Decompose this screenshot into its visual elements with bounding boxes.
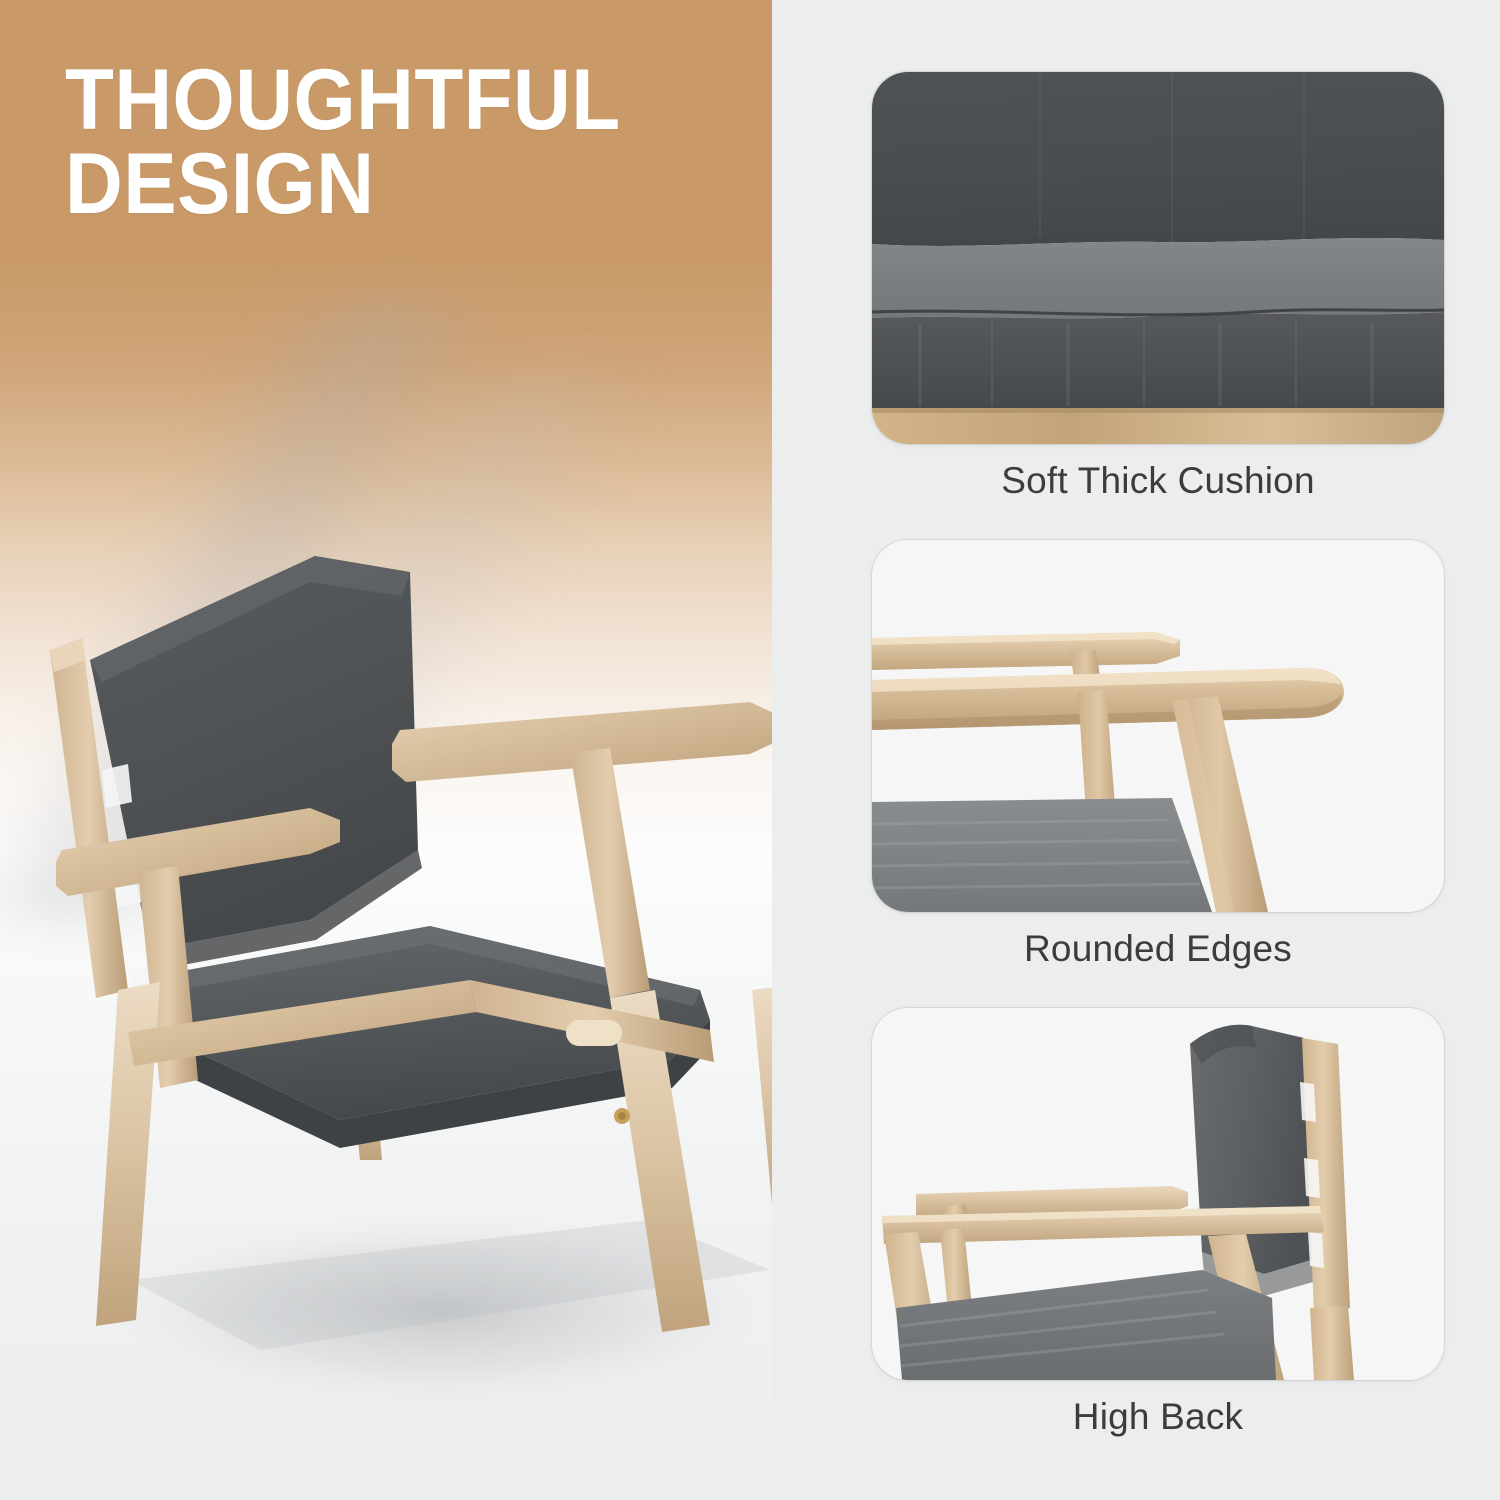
feature-image-high-back [872,1008,1444,1380]
back-cushion-slab [872,72,1444,246]
backrest-slat-gap-2 [1304,1158,1320,1198]
side-profile-illustration [872,1008,1444,1380]
feature-image-cushion [872,72,1444,444]
main-product-image [10,520,772,1410]
backrest-slat-gap-3 [1308,1232,1324,1268]
feature-image-rounded-edges [872,540,1444,912]
armrest-closeup-illustration [872,540,1444,912]
chair-leg-rear-right [752,985,772,1226]
marketing-image-canvas: THOUGHTFUL DESIGN [0,0,1500,1500]
seat-cushion-slab [872,312,1444,408]
seat-cushion-edge [872,798,1212,912]
cushion-mid-band [872,238,1444,318]
hero-section: THOUGHTFUL DESIGN [0,0,772,1500]
brass-screw-slot [618,1112,626,1120]
page-title: THOUGHTFUL DESIGN [65,58,707,227]
feature-caption-soft-thick-cushion: Soft Thick Cushion [872,460,1444,502]
feature-panel-column: Soft Thick Cushion [872,0,1444,1500]
armrest-support-right [570,748,650,998]
feature-caption-high-back: High Back [872,1396,1444,1438]
dowel-cap [566,1020,622,1046]
wood-base-strip [872,408,1444,444]
feature-panel-rounded-edges[interactable]: Rounded Edges [872,540,1444,990]
rear-leg [1310,1306,1354,1380]
feature-panel-high-back[interactable]: High Back [872,1008,1444,1458]
backrest-slat-gap-1 [1300,1082,1316,1122]
frame-slat-gap-1 [102,764,132,808]
feature-caption-rounded-edges: Rounded Edges [872,928,1444,970]
cushion-closeup-illustration [872,72,1444,444]
feature-panel-soft-thick-cushion[interactable]: Soft Thick Cushion [872,72,1444,522]
wood-base-top-edge [872,408,1444,413]
